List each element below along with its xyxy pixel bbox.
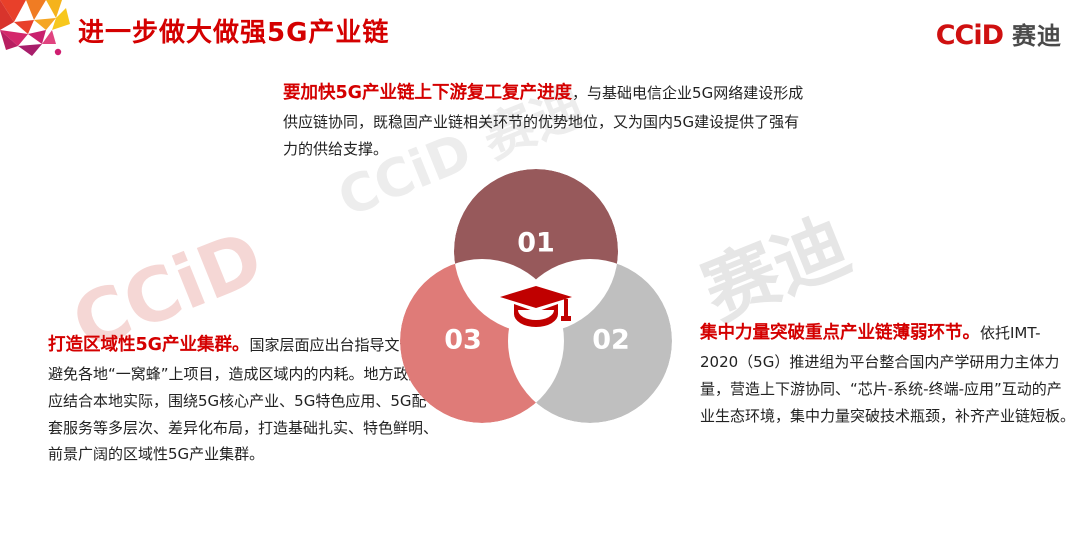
text-block-right: 集中力量突破重点产业链薄弱环节。依托IMT-2020（5G）推进组为平台整合国内… <box>700 318 1075 429</box>
text-block-left: 打造区域性5G产业集群。国家层面应出台指导文件，避免各地“一窝蜂”上项目，造成区… <box>48 330 438 468</box>
text-block-right-lead: 集中力量突破重点产业链薄弱环节。 <box>700 323 980 343</box>
venn-circle-02-label: 02 <box>592 325 630 356</box>
venn-circle-03-label: 03 <box>444 325 482 356</box>
text-block-left-lead: 打造区域性5G产业集群。 <box>48 335 250 355</box>
decorative-polygon-logo <box>0 0 72 62</box>
venn-circle-01-label: 01 <box>517 228 555 259</box>
brand-name: 赛迪 <box>1012 16 1062 51</box>
venn-circle-02[interactable]: 02 <box>508 259 672 423</box>
text-block-left-body: 国家层面应出台指导文件，避免各地“一窝蜂”上项目，造成区域内的内耗。地方政府应结… <box>48 336 438 463</box>
text-block-top: 要加快5G产业链上下游复工复产进度，与基础电信企业5G网络建设形成供应链协同，既… <box>283 78 813 163</box>
brand-logo: CCiD 赛迪 <box>936 16 1062 51</box>
page-title: 进一步做大做强5G产业链 <box>78 12 389 49</box>
text-block-top-lead: 要加快5G产业链上下游复工复产进度 <box>283 83 572 103</box>
brand-mark: CCiD <box>936 20 1003 51</box>
venn-diagram: 01 03 02 <box>400 165 672 427</box>
slide-canvas: CCiD CCiD 赛迪 赛迪 进一步做大做强5G产业链 CCiD 赛迪 要加快… <box>0 0 1080 538</box>
